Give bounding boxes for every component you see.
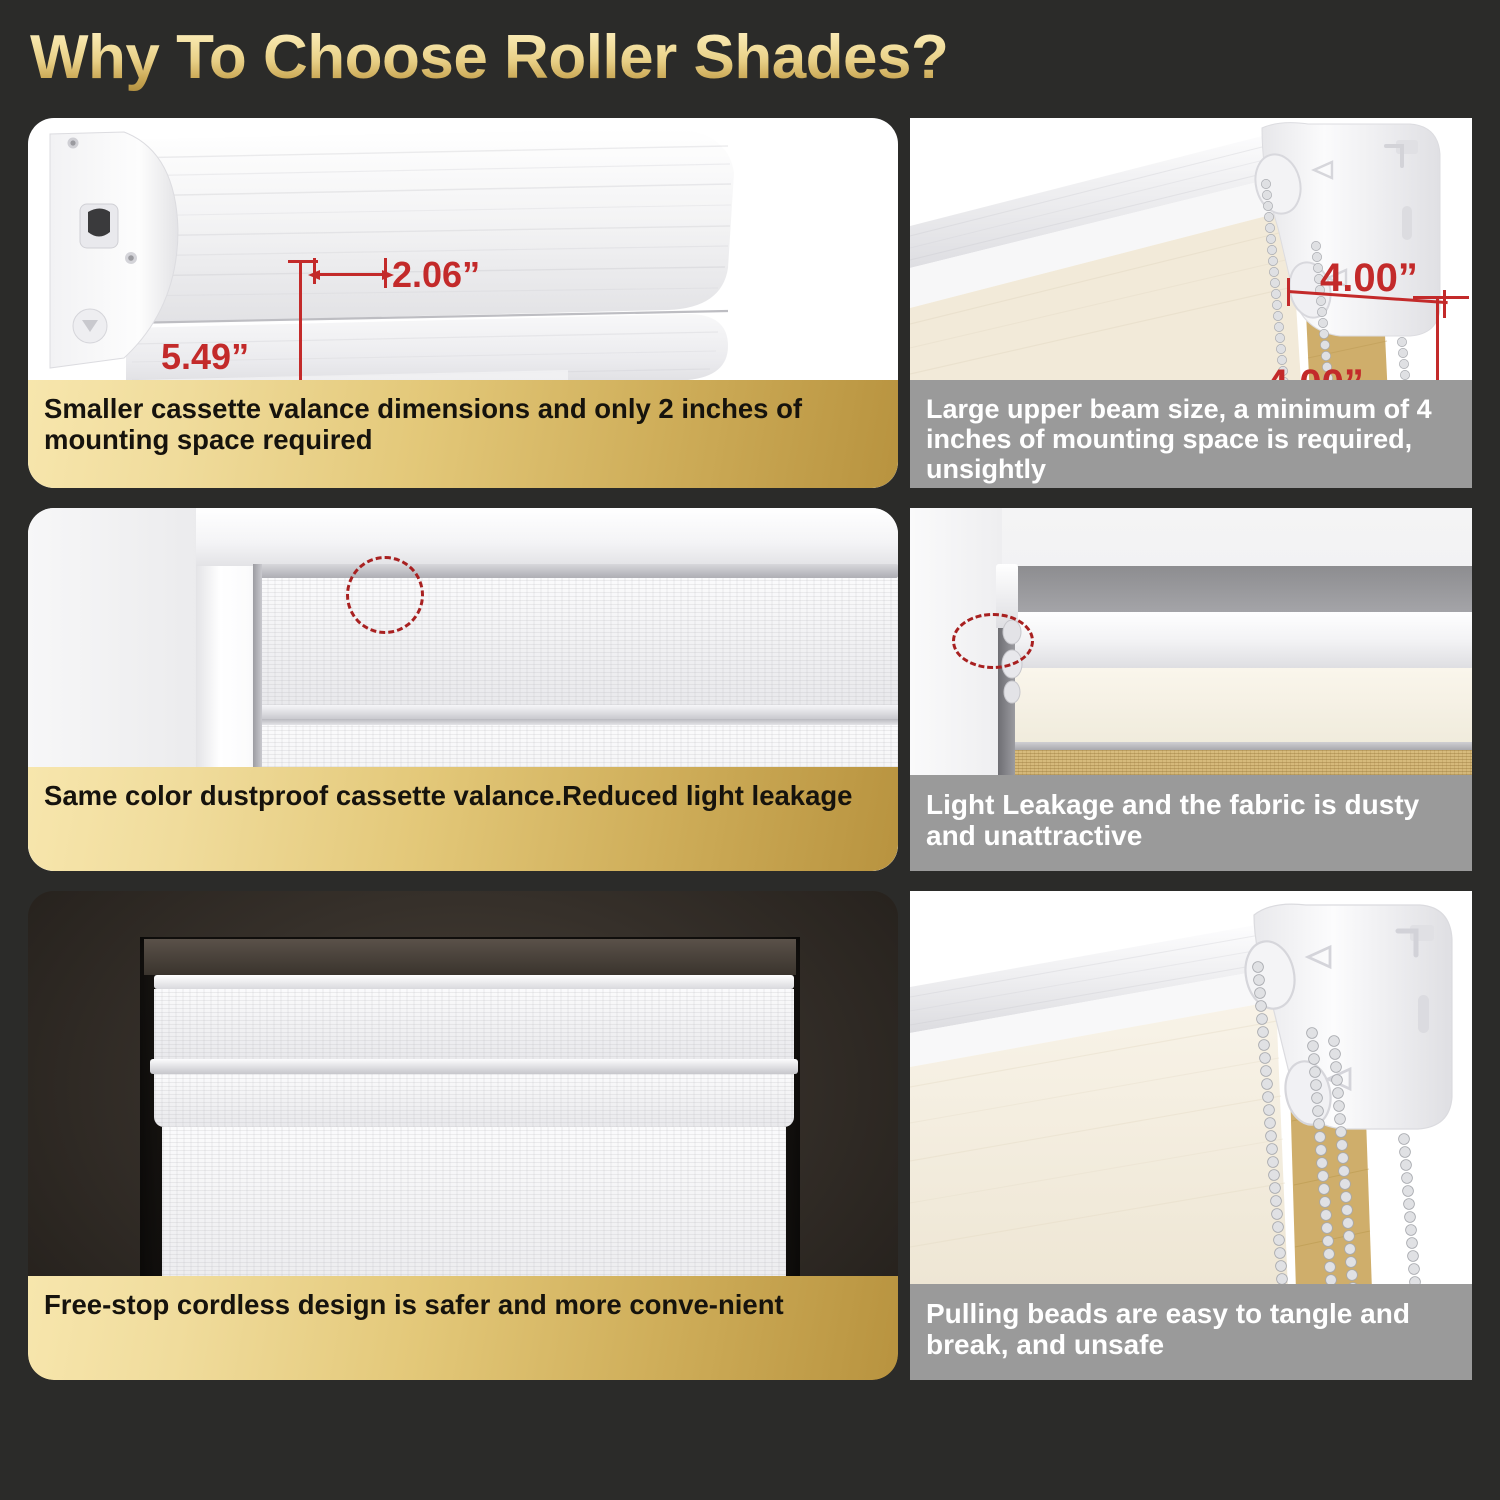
width-dim-tick-right <box>384 258 387 288</box>
width-dimension-label: 2.06” <box>392 254 480 296</box>
panel-1-caption: Smaller cassette valance dimensions and … <box>28 380 898 488</box>
panel-3: smaller gap Same color dustproof cassett… <box>28 508 898 871</box>
recess-soffit <box>144 939 796 975</box>
panel-3-caption: Same color dustproof cassette valance.Re… <box>28 767 898 871</box>
panel-1: 2.06” 5.49” Smaller cassette valance dim… <box>28 118 898 488</box>
valance-face <box>1006 668 1472 744</box>
panel-5: Free-stop cordless design is safer and m… <box>28 891 898 1380</box>
height-dim-tick-top <box>288 260 318 263</box>
width-dim-tick-left-2 <box>1287 278 1290 306</box>
panel-2: 4.00” 4.00” Large upper beam size, a min… <box>910 118 1472 488</box>
panel-2-caption: Large upper beam size, a minimum of 4 in… <box>910 380 1472 488</box>
bead-chain-group-2 <box>910 891 1472 1291</box>
shade-headrail <box>154 975 794 989</box>
page-title: Why To Choose Roller Shades? <box>30 22 948 93</box>
highlight-circle <box>346 556 424 634</box>
roller-tube <box>1006 612 1472 674</box>
highlight-circle-2 <box>952 613 1034 669</box>
height-dim-tick-top-2 <box>1413 296 1469 299</box>
shade-roll-band <box>154 1074 794 1127</box>
panel-6: Pulling beads are easy to tangle and bre… <box>910 891 1472 1380</box>
panel-5-caption: Free-stop cordless design is safer and m… <box>28 1276 898 1380</box>
panel-4-caption: Light Leakage and the fabric is dusty an… <box>910 775 1472 871</box>
width-dimension-label-2: 4.00” <box>1320 256 1418 301</box>
shade-valance-rail <box>150 1059 798 1074</box>
valance-bottom-edge <box>1006 742 1472 750</box>
shade-valance-fabric <box>154 989 794 1061</box>
casing-top-molding <box>196 508 898 566</box>
panel-6-caption: Pulling beads are easy to tangle and bre… <box>910 1284 1472 1380</box>
width-dimension-arrows <box>306 266 396 284</box>
valance-mid-rail <box>260 705 898 719</box>
height-dimension-label: 5.49” <box>161 336 249 378</box>
width-dim-tick-right-2 <box>1443 290 1446 318</box>
panel-4: Large gap Light Leakage and the fabric i… <box>910 508 1472 871</box>
